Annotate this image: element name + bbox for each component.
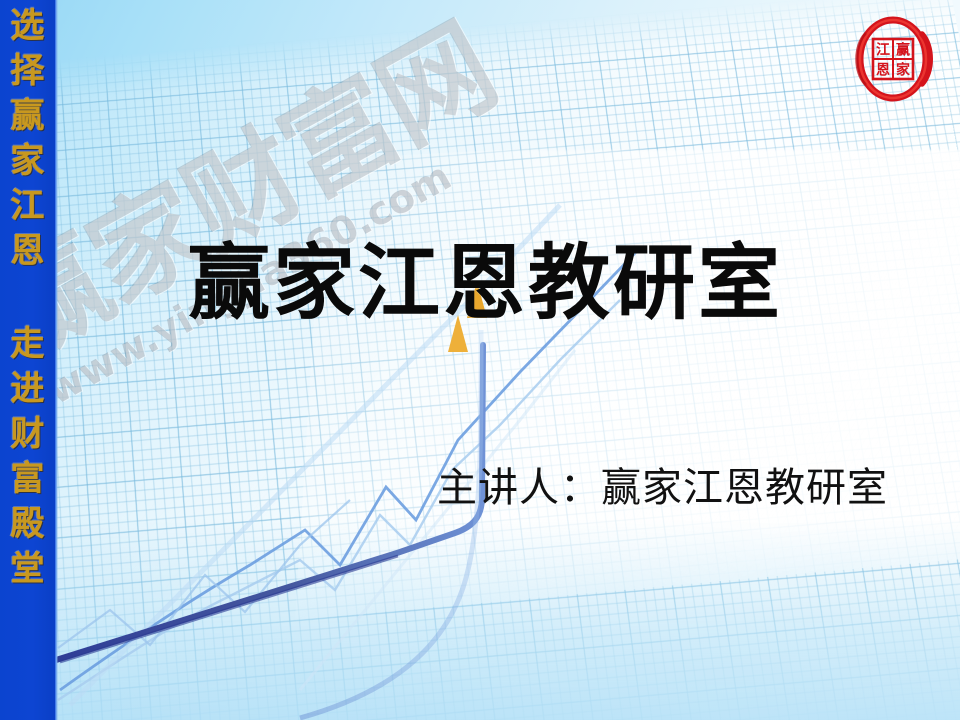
banner-phrase-top: 选 择 赢 家 江 恩 [11, 4, 45, 274]
banner-char: 恩 [11, 229, 45, 274]
slide-root: 赢家财富网 www.yingjia360.com 选 择 赢 家 江 恩 走 进… [0, 0, 960, 720]
banner-char: 择 [11, 49, 45, 94]
banner-char: 家 [11, 139, 45, 184]
seal-char-1: 江 [876, 42, 890, 59]
banner-char: 走 [11, 322, 45, 367]
banner-char: 殿 [11, 502, 45, 547]
left-vertical-banner: 选 择 赢 家 江 恩 走 进 财 富 殿 堂 [0, 0, 55, 720]
brand-logo-icon: 江 赢 恩 家 [843, 14, 943, 104]
banner-char: 富 [11, 457, 45, 502]
seal-char-4: 家 [896, 62, 911, 79]
banner-char: 财 [11, 412, 45, 457]
slide-subtitle: 主讲人：赢家江恩教研室 [437, 462, 888, 514]
banner-edge-highlight [55, 0, 58, 720]
banner-char: 堂 [11, 547, 45, 592]
banner-char: 赢 [11, 94, 45, 139]
banner-char: 选 [11, 4, 45, 49]
slide-title: 赢家江恩教研室 [188, 236, 783, 332]
seal-char-2: 赢 [896, 42, 910, 59]
banner-phrase-bottom: 走 进 财 富 殿 堂 [11, 322, 45, 592]
banner-char: 江 [11, 184, 45, 229]
background-artwork [0, 0, 960, 720]
banner-char: 进 [11, 367, 45, 412]
seal-char-3: 恩 [876, 63, 890, 79]
